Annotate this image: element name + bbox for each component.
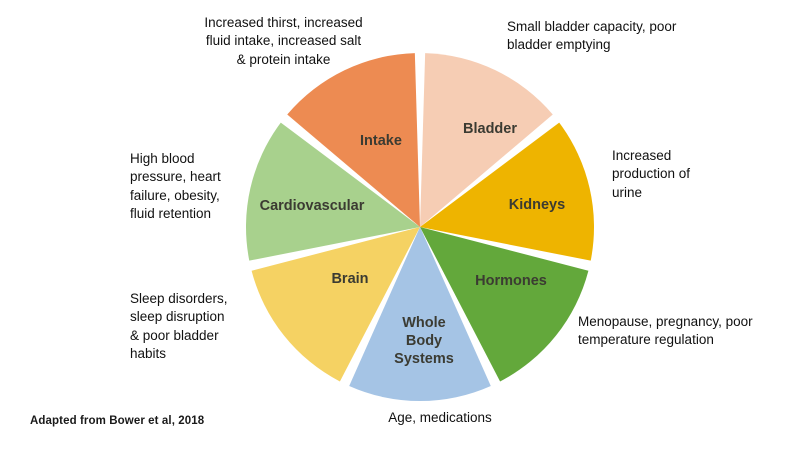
pie-svg: BladderKidneysHormonesWholeBodySystemsBr… (0, 0, 796, 455)
callout-cardiovascular: High blood pressure, heart failure, obes… (130, 150, 255, 223)
pie-slice-labels-group: BladderKidneysHormonesWholeBodySystemsBr… (260, 121, 566, 367)
pie-slice-kidneys[interactable] (420, 123, 594, 261)
callout-kidneys: Increased production of urine (612, 147, 752, 202)
callout-intake: Increased thirst, increased fluid intake… (176, 14, 391, 69)
pie-slice-whole-body-systems[interactable] (349, 227, 491, 401)
pie-slice-label-intake: Intake (360, 133, 402, 149)
pie-chart: BladderKidneysHormonesWholeBodySystemsBr… (0, 0, 796, 455)
callout-whole-body-systems: Age, medications (330, 409, 550, 427)
pie-slice-intake[interactable] (287, 53, 420, 227)
pie-slice-cardiovascular[interactable] (246, 123, 420, 261)
pie-slice-brain[interactable] (252, 227, 420, 381)
pie-slice-label-bladder: Bladder (463, 121, 517, 137)
diagram-canvas: BladderKidneysHormonesWholeBodySystemsBr… (0, 0, 796, 455)
pie-slices-group (246, 53, 594, 401)
pie-slice-label-kidneys: Kidneys (509, 197, 565, 213)
callout-brain: Sleep disorders, sleep disruption & poor… (130, 290, 260, 363)
pie-slice-label-brain: Brain (331, 271, 368, 287)
pie-slice-label-hormones: Hormones (475, 273, 547, 289)
callout-hormones: Menopause, pregnancy, poor temperature r… (578, 313, 793, 350)
pie-slice-bladder[interactable] (420, 53, 553, 227)
source-credit: Adapted from Bower et al, 2018 (30, 415, 204, 427)
pie-slice-hormones[interactable] (420, 227, 588, 381)
callout-bladder: Small bladder capacity, poor bladder emp… (507, 18, 747, 55)
pie-slice-label-whole-body-systems: WholeBodySystems (394, 315, 454, 367)
pie-slice-label-cardiovascular: Cardiovascular (260, 198, 365, 214)
